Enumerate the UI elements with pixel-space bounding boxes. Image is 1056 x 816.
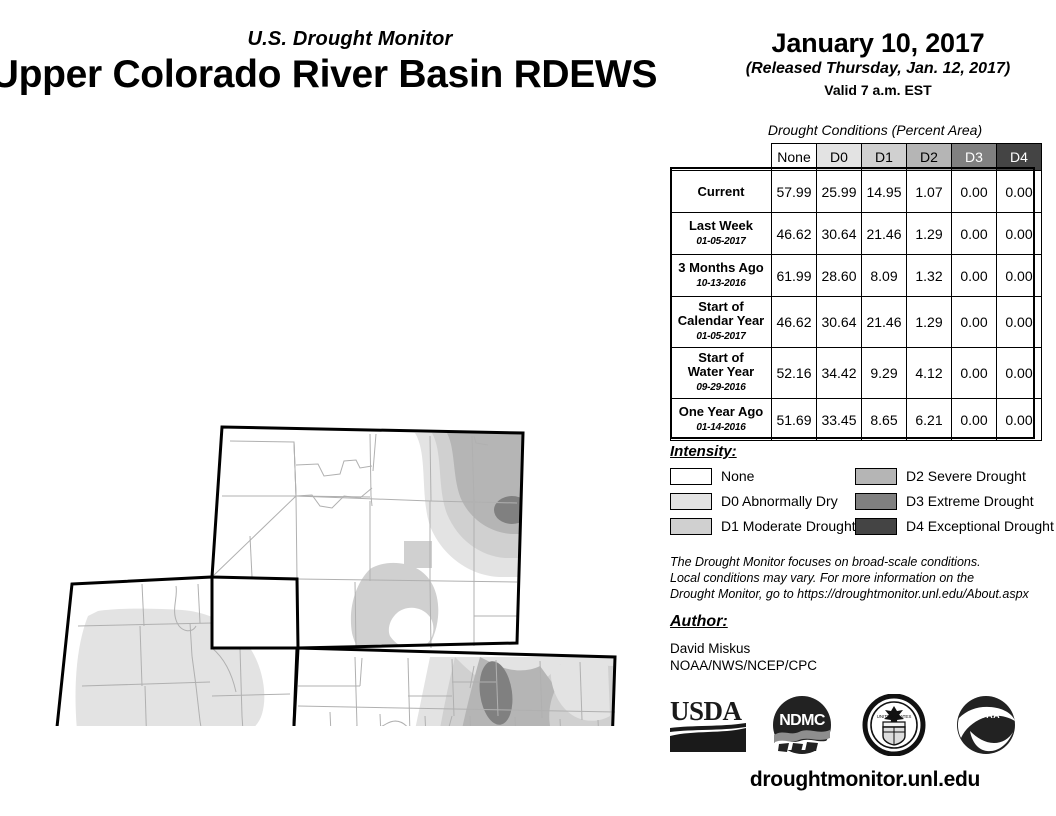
cell-d0: 28.60	[817, 255, 862, 297]
drought-monitor-page: U.S. Drought Monitor Upper Colorado Rive…	[0, 0, 1056, 816]
legend-label: None	[721, 468, 754, 484]
noaa-logo: NOAA	[953, 694, 1019, 756]
table-row: Start ofWater Year 09-29-2016 52.16 34.4…	[671, 348, 1042, 399]
cell-none: 46.62	[772, 213, 817, 255]
row-label-text: Start ofCalendar Year	[678, 299, 764, 328]
table-row: 3 Months Ago 10-13-2016 61.99 28.60 8.09…	[671, 255, 1042, 297]
table-corner-cell	[671, 144, 772, 171]
valid-time: Valid 7 a.m. EST	[700, 82, 1056, 98]
cell-d4: 0.00	[997, 171, 1042, 213]
legend: Intensity: None D0 Abnormally Dry D1 Mod…	[670, 443, 1050, 538]
usdc-seal-logo: UNITED STATES	[861, 694, 927, 756]
column-header-d1: D1	[862, 144, 907, 171]
cell-none: 52.16	[772, 348, 817, 399]
legend-label: D0 Abnormally Dry	[721, 493, 838, 509]
legend-label: D4 Exceptional Drought	[906, 518, 1054, 534]
row-label-text: Current	[698, 184, 745, 199]
drought-conditions-table: None D0 D1 D2 D3 D4 Current 57.99 25.99 …	[670, 143, 1042, 441]
legend-swatch-d3	[855, 493, 897, 510]
cell-d1: 8.09	[862, 255, 907, 297]
column-header-none: None	[772, 144, 817, 171]
ndmc-logo: NDMC	[769, 694, 835, 756]
row-label-text: Start ofWater Year	[688, 350, 755, 379]
row-label-text: 3 Months Ago	[678, 260, 763, 275]
cell-d2: 1.29	[907, 297, 952, 348]
svg-text:NOAA: NOAA	[972, 710, 1000, 720]
cell-d1: 21.46	[862, 213, 907, 255]
legend-item-d4: D4 Exceptional Drought	[855, 516, 1054, 536]
legend-swatch-none	[670, 468, 712, 485]
cell-d3: 0.00	[952, 255, 997, 297]
cell-d4: 0.00	[997, 399, 1042, 441]
legend-item-d1: D1 Moderate Drought	[670, 516, 856, 536]
table-row: Start ofCalendar Year 01-05-2017 46.62 3…	[671, 297, 1042, 348]
page-title: Upper Colorado River Basin RDEWS	[0, 53, 700, 97]
row-label-current: Current	[671, 171, 772, 213]
cell-d2: 4.12	[907, 348, 952, 399]
cell-d3: 0.00	[952, 399, 997, 441]
table-body: Current 57.99 25.99 14.95 1.07 0.00 0.00…	[671, 171, 1042, 441]
cell-d3: 0.00	[952, 171, 997, 213]
legend-label: D3 Extreme Drought	[906, 493, 1034, 509]
row-label-one-year-ago: One Year Ago 01-14-2016	[671, 399, 772, 441]
release-date: (Released Thursday, Jan. 12, 2017)	[700, 60, 1056, 78]
legend-swatch-d1	[670, 518, 712, 535]
author-block: David Miskus NOAA/NWS/NCEP/CPC	[670, 640, 817, 674]
header-right: January 10, 2017 (Released Thursday, Jan…	[700, 28, 1056, 98]
cell-none: 57.99	[772, 171, 817, 213]
row-label-date: 10-13-2016	[673, 277, 769, 291]
author-heading: Author:	[670, 613, 728, 631]
row-label-text: Last Week	[689, 218, 753, 233]
cell-d4: 0.00	[997, 213, 1042, 255]
usda-logo: USDA	[665, 694, 751, 756]
legend-item-d0: D0 Abnormally Dry	[670, 491, 838, 511]
table-header-row: None D0 D1 D2 D3 D4	[671, 144, 1042, 171]
cell-d1: 8.65	[862, 399, 907, 441]
column-header-d3: D3	[952, 144, 997, 171]
legend-item-d2: D2 Severe Drought	[855, 466, 1026, 486]
row-label-3-months-ago: 3 Months Ago 10-13-2016	[671, 255, 772, 297]
cell-none: 61.99	[772, 255, 817, 297]
disclaimer: The Drought Monitor focuses on broad-sca…	[670, 554, 1050, 602]
table-row: One Year Ago 01-14-2016 51.69 33.45 8.65…	[671, 399, 1042, 441]
cell-d3: 0.00	[952, 297, 997, 348]
legend-item-d3: D3 Extreme Drought	[855, 491, 1034, 511]
cell-d2: 6.21	[907, 399, 952, 441]
cell-d4: 0.00	[997, 297, 1042, 348]
cell-d0: 30.64	[817, 297, 862, 348]
logo-row: USDA NDMC UNITED STATES NOAA	[665, 694, 1056, 760]
disclaimer-line-1: The Drought Monitor focuses on broad-sca…	[670, 554, 1050, 570]
table-row: Current 57.99 25.99 14.95 1.07 0.00 0.00	[671, 171, 1042, 213]
row-label-start-of-water-year: Start ofWater Year 09-29-2016	[671, 348, 772, 399]
state-colorado	[286, 648, 615, 726]
cell-d0: 25.99	[817, 171, 862, 213]
legend-title: Intensity:	[670, 443, 1050, 460]
cell-d4: 0.00	[997, 348, 1042, 399]
cell-d2: 1.32	[907, 255, 952, 297]
legend-swatch-d4	[855, 518, 897, 535]
column-header-d0: D0	[817, 144, 862, 171]
cell-d3: 0.00	[952, 348, 997, 399]
author-org: NOAA/NWS/NCEP/CPC	[670, 657, 817, 674]
cell-d0: 33.45	[817, 399, 862, 441]
cell-d4: 0.00	[997, 255, 1042, 297]
header-subtitle: U.S. Drought Monitor	[0, 28, 700, 51]
legend-item-none: None	[670, 466, 754, 486]
legend-label: D1 Moderate Drought	[721, 518, 856, 534]
row-label-date: 01-14-2016	[673, 421, 769, 435]
legend-swatch-d0	[670, 493, 712, 510]
table-row: Last Week 01-05-2017 46.62 30.64 21.46 1…	[671, 213, 1042, 255]
cell-d1: 9.29	[862, 348, 907, 399]
cell-none: 46.62	[772, 297, 817, 348]
row-label-text: One Year Ago	[679, 404, 764, 419]
cell-d2: 1.29	[907, 213, 952, 255]
cell-d1: 14.95	[862, 171, 907, 213]
table-caption: Drought Conditions (Percent Area)	[700, 122, 1050, 138]
cell-none: 51.69	[772, 399, 817, 441]
row-label-start-of-calendar-year: Start ofCalendar Year 01-05-2017	[671, 297, 772, 348]
website-url: droughtmonitor.unl.edu	[700, 768, 1030, 792]
svg-text:USDA: USDA	[670, 696, 743, 726]
cell-d0: 30.64	[817, 213, 862, 255]
column-header-d4: D4	[997, 144, 1042, 171]
author-name: David Miskus	[670, 640, 817, 657]
cell-d0: 34.42	[817, 348, 862, 399]
cell-d2: 1.07	[907, 171, 952, 213]
legend-swatch-d2	[855, 468, 897, 485]
legend-label: D2 Severe Drought	[906, 468, 1026, 484]
drought-map	[0, 196, 662, 726]
svg-text:UNITED STATES: UNITED STATES	[877, 714, 912, 719]
svg-text:NDMC: NDMC	[779, 712, 826, 729]
row-label-date: 01-05-2017	[673, 330, 769, 344]
row-label-last-week: Last Week 01-05-2017	[671, 213, 772, 255]
row-label-date: 01-05-2017	[673, 235, 769, 249]
disclaimer-line-2: Local conditions may vary. For more info…	[670, 570, 1050, 586]
report-date: January 10, 2017	[700, 28, 1056, 59]
row-label-date: 09-29-2016	[673, 381, 769, 395]
column-header-d2: D2	[907, 144, 952, 171]
cell-d1: 21.46	[862, 297, 907, 348]
header-left: U.S. Drought Monitor Upper Colorado Rive…	[0, 28, 700, 97]
disclaimer-line-3: Drought Monitor, go to https://droughtmo…	[670, 586, 1050, 602]
cell-d3: 0.00	[952, 213, 997, 255]
